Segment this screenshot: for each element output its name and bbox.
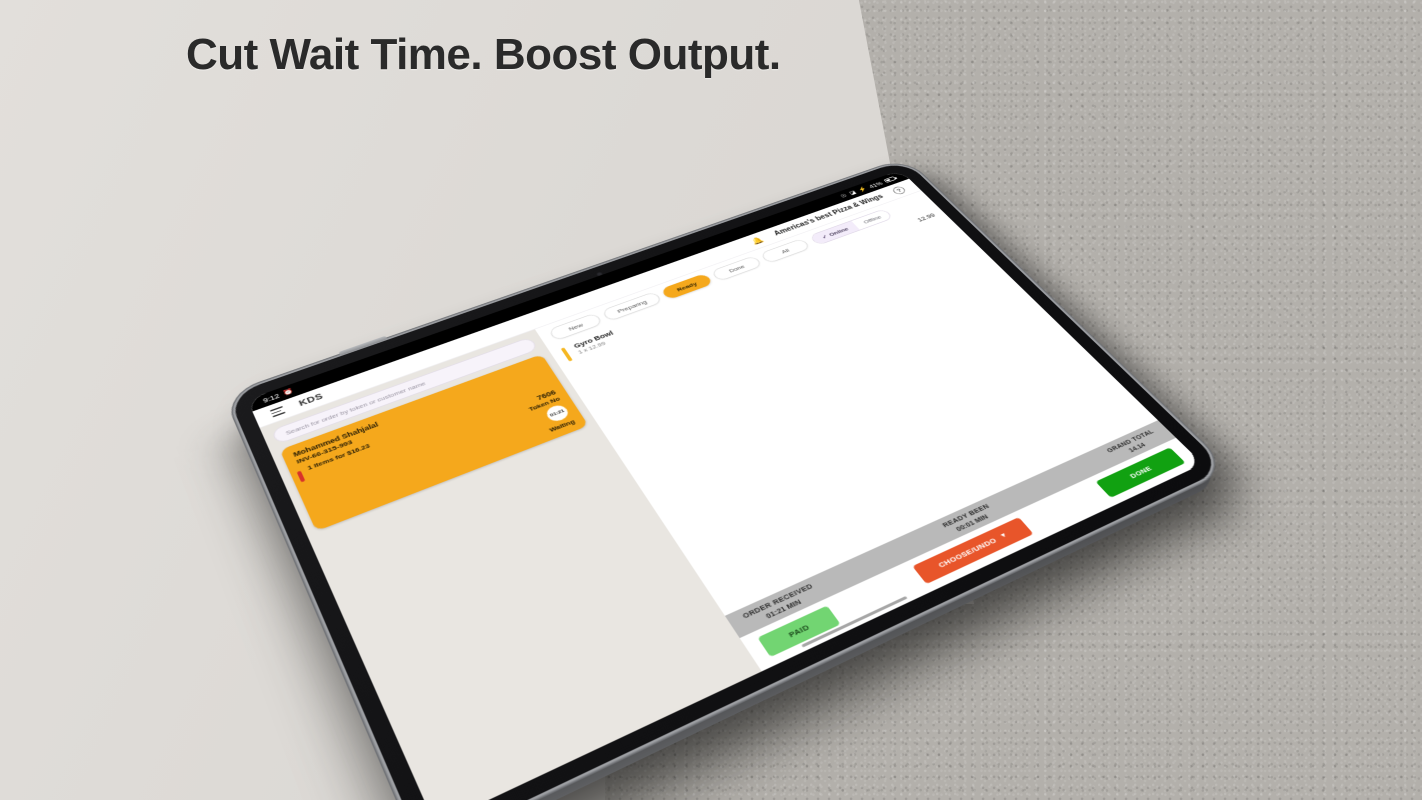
grand-total-block: GRAND TOTAL 14.14: [1105, 428, 1163, 461]
hamburger-menu-icon[interactable]: [270, 406, 286, 417]
order-received-label: ORDER RECEIVED: [741, 582, 815, 621]
ready-been-label: READY BEEN: [941, 502, 992, 529]
order-received-value: 01:21 MIN: [746, 589, 820, 628]
tablet-device: 9:12 ⏰ ☉ ◪ ⚡ 41%: [228, 160, 1226, 800]
wifi-icon: ☉: [839, 193, 848, 199]
charging-bolt-icon: ⚡: [857, 186, 868, 192]
order-received-block: ORDER RECEIVED 01:21 MIN: [741, 582, 820, 628]
grand-total-label: GRAND TOTAL: [1105, 428, 1156, 455]
ready-been-block: READY BEEN 00:01 MIN: [941, 502, 998, 536]
order-priority-accent: [297, 471, 305, 483]
paid-button[interactable]: PAID: [757, 606, 840, 657]
alarm-icon: ⏰: [283, 388, 295, 396]
bell-icon[interactable]: 🔔: [750, 235, 766, 245]
toggle-online-label: Online: [827, 226, 850, 237]
done-button[interactable]: DONE: [1096, 447, 1186, 497]
grand-total-value: 14.14: [1111, 434, 1162, 461]
tablet-screen: 9:12 ⏰ ☉ ◪ ⚡ 41%: [247, 170, 1203, 800]
ready-been-value: 00:01 MIN: [946, 509, 997, 536]
caret-down-icon: ▼: [999, 532, 1010, 540]
check-icon: ✓: [820, 233, 829, 239]
tablet-scene: 9:12 ⏰ ☉ ◪ ⚡ 41%: [0, 0, 1422, 800]
choose-undo-label: CHOOSE/UNDO: [936, 536, 998, 569]
tablet-bezel: 9:12 ⏰ ☉ ◪ ⚡ 41%: [228, 160, 1226, 800]
help-circle-icon[interactable]: ?: [891, 185, 907, 195]
item-status-bar: [561, 347, 573, 361]
battery-icon: [883, 176, 896, 183]
item-line-total: 12.99: [916, 212, 937, 223]
signal-icon: ◪: [848, 190, 857, 196]
poster-stage: Cut Wait Time. Boost Output. 9:12 ⏰: [0, 0, 1422, 800]
toggle-offline-label: Offline: [862, 214, 883, 224]
